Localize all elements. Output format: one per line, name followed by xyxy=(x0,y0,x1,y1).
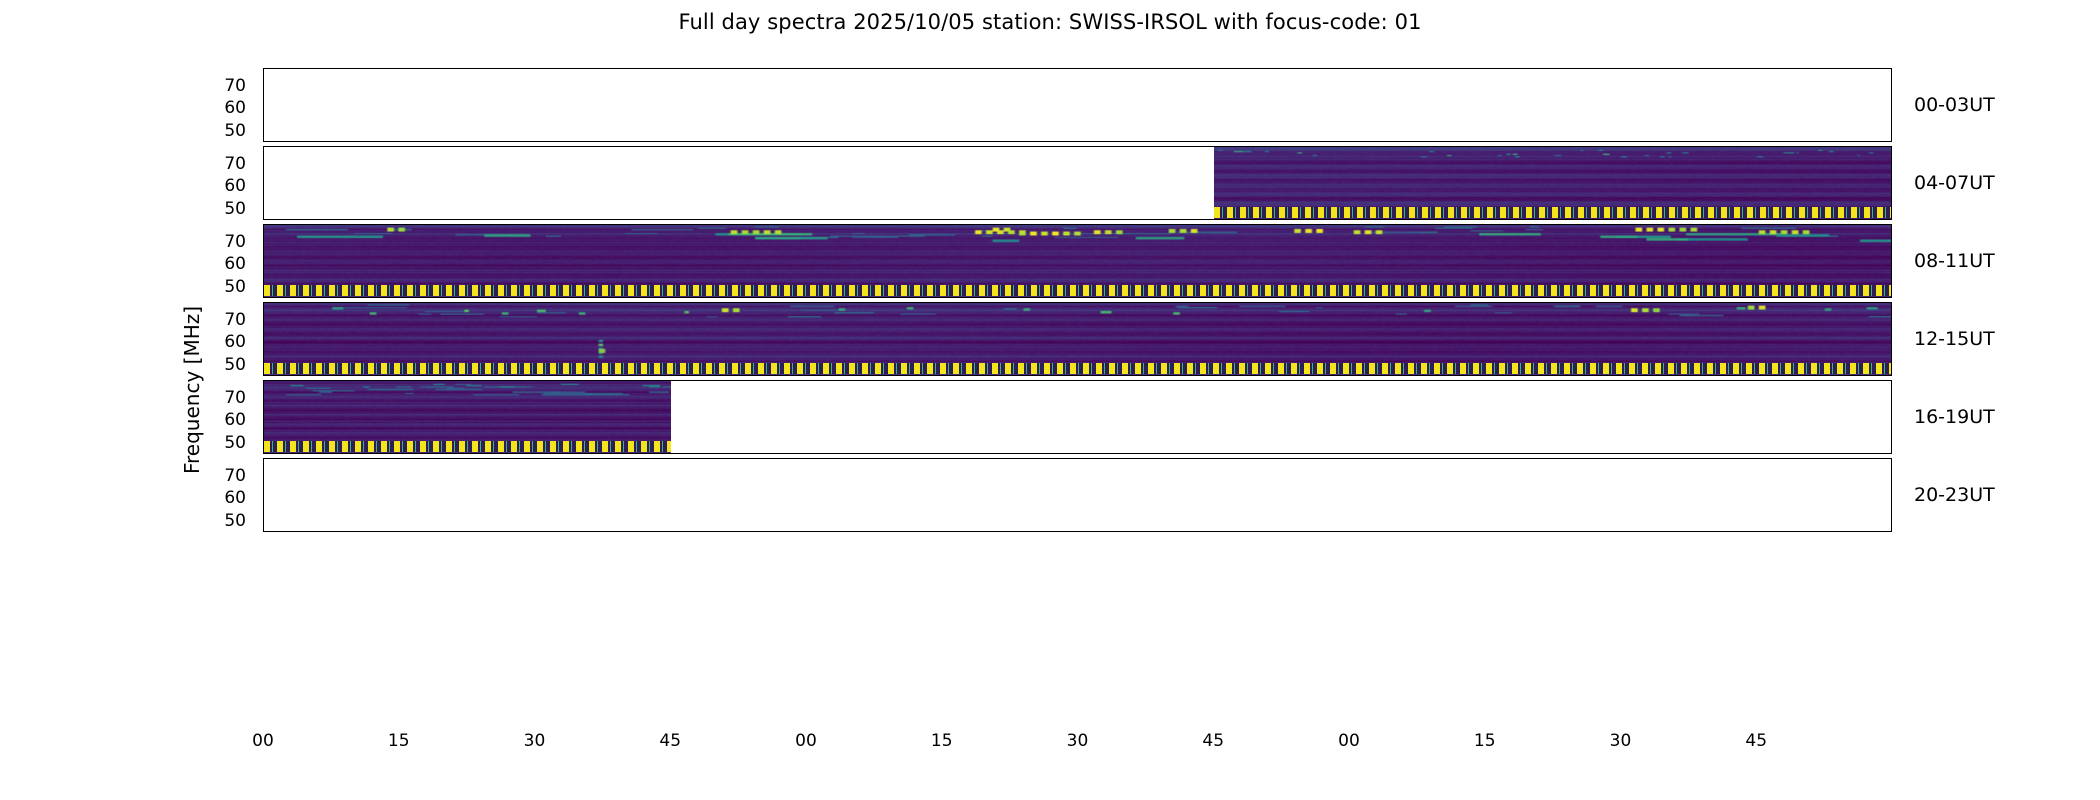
x-axis-tick xyxy=(807,219,808,220)
x-axis-tick xyxy=(400,375,401,376)
panel-plot-area xyxy=(264,225,1891,297)
x-axis-tick-top xyxy=(1622,68,1623,69)
spectrogram-figure: Full day spectra 2025/10/05 station: SWI… xyxy=(0,0,2100,800)
x-axis-tick xyxy=(1079,297,1080,298)
spectrogram-panel-12-15ut[interactable] xyxy=(263,302,1892,376)
y-axis-tick-label: 70 xyxy=(191,388,246,408)
spectrogram-data-block xyxy=(264,303,1892,375)
panel-time-range-label: 04-07UT xyxy=(1914,172,1995,194)
y-axis-tick-right xyxy=(1891,343,1892,344)
spectrogram-data-block xyxy=(1214,147,1892,219)
x-axis-tick-top xyxy=(1214,68,1215,69)
x-axis-tick xyxy=(943,375,944,376)
y-axis-tick-right xyxy=(1891,243,1892,244)
x-axis-tick xyxy=(1757,375,1758,376)
y-axis-tick xyxy=(263,210,264,211)
y-axis-tick-right xyxy=(1891,477,1892,478)
y-axis-tick-label: 70 xyxy=(191,154,246,174)
x-axis-tick-label: 45 xyxy=(648,731,692,751)
x-axis-tick-top xyxy=(536,68,537,69)
y-axis-tick-right xyxy=(1891,265,1892,266)
x-axis-tick xyxy=(1350,531,1351,532)
x-axis-tick xyxy=(1486,141,1487,142)
x-axis-tick xyxy=(1079,141,1080,142)
y-axis-tick xyxy=(263,444,264,445)
x-axis-tick xyxy=(807,531,808,532)
x-axis-tick-top xyxy=(671,458,672,459)
x-axis-tick-top xyxy=(1214,380,1215,381)
x-axis-tick-label: 15 xyxy=(1463,731,1507,751)
y-axis-tick xyxy=(263,288,264,289)
x-axis-tick-top xyxy=(1622,224,1623,225)
x-axis-tick-top xyxy=(1350,380,1351,381)
x-axis-tick xyxy=(1486,219,1487,220)
x-axis-tick-top xyxy=(1757,68,1758,69)
x-axis-tick-top xyxy=(1350,458,1351,459)
x-axis-tick-top xyxy=(671,380,672,381)
x-axis-tick xyxy=(943,219,944,220)
y-axis-tick xyxy=(263,366,264,367)
x-axis-tick-top xyxy=(807,302,808,303)
x-axis-tick xyxy=(536,375,537,376)
x-axis-tick-top xyxy=(536,458,537,459)
page-title: Full day spectra 2025/10/05 station: SWI… xyxy=(0,10,2100,34)
x-axis-tick xyxy=(1486,453,1487,454)
x-axis-tick-label: 30 xyxy=(513,731,557,751)
x-axis-tick-top xyxy=(1486,146,1487,147)
y-axis-tick xyxy=(263,343,264,344)
x-axis-tick-top xyxy=(536,380,537,381)
x-axis-tick xyxy=(536,297,537,298)
x-axis-tick xyxy=(943,531,944,532)
x-axis-tick-top xyxy=(943,68,944,69)
x-axis-tick-top xyxy=(1079,458,1080,459)
y-axis-tick-label: 60 xyxy=(191,488,246,508)
x-axis-tick-top xyxy=(807,458,808,459)
x-axis-tick xyxy=(671,453,672,454)
x-axis-tick-top xyxy=(943,458,944,459)
x-axis-tick-top xyxy=(1079,68,1080,69)
panel-time-range-label: 20-23UT xyxy=(1914,484,1995,506)
x-axis-tick xyxy=(1079,531,1080,532)
y-axis-tick-label: 60 xyxy=(191,332,246,352)
x-axis-tick-label: 30 xyxy=(1056,731,1100,751)
x-axis-tick-top xyxy=(1622,458,1623,459)
x-axis-tick xyxy=(943,141,944,142)
x-axis-tick xyxy=(1622,531,1623,532)
x-axis-tick xyxy=(1214,531,1215,532)
x-axis-tick xyxy=(807,453,808,454)
y-axis-tick-right xyxy=(1891,366,1892,367)
x-axis-tick-top xyxy=(1079,302,1080,303)
y-axis-tick xyxy=(263,522,264,523)
x-axis-tick-top xyxy=(671,224,672,225)
x-axis-tick xyxy=(671,141,672,142)
x-axis-tick xyxy=(1757,531,1758,532)
x-axis-tick xyxy=(1079,453,1080,454)
y-axis-tick xyxy=(263,499,264,500)
x-axis-tick-top xyxy=(943,224,944,225)
y-axis-tick-right xyxy=(1891,499,1892,500)
x-axis-tick xyxy=(400,531,401,532)
x-axis-tick-label: 45 xyxy=(1734,731,1778,751)
x-axis-tick-top xyxy=(1757,380,1758,381)
x-axis-tick xyxy=(807,375,808,376)
x-axis-tick-label: 00 xyxy=(1327,731,1371,751)
y-axis-tick-right xyxy=(1891,109,1892,110)
y-axis-tick-label: 60 xyxy=(191,176,246,196)
y-axis-tick-right xyxy=(1891,421,1892,422)
x-axis-tick-top xyxy=(536,146,537,147)
y-axis-tick-label: 60 xyxy=(191,410,246,430)
x-axis-tick xyxy=(943,297,944,298)
x-axis-tick xyxy=(536,219,537,220)
y-axis-tick-right xyxy=(1891,321,1892,322)
x-axis-tick xyxy=(1622,453,1623,454)
x-axis-tick xyxy=(671,375,672,376)
x-axis-tick-top xyxy=(1486,68,1487,69)
y-axis-tick xyxy=(263,399,264,400)
x-axis-tick-top xyxy=(1622,302,1623,303)
x-axis-tick xyxy=(1350,141,1351,142)
y-axis-tick-label: 50 xyxy=(191,199,246,219)
x-axis-tick-top xyxy=(1486,380,1487,381)
calibration-strip xyxy=(264,285,1892,296)
x-axis-tick xyxy=(1079,219,1080,220)
x-axis-tick-top xyxy=(1350,146,1351,147)
x-axis-tick xyxy=(536,531,537,532)
x-axis-tick-top xyxy=(807,224,808,225)
y-axis-tick xyxy=(263,187,264,188)
y-axis-tick-right xyxy=(1891,444,1892,445)
y-axis-tick-label: 50 xyxy=(191,355,246,375)
y-axis-tick-label: 50 xyxy=(191,511,246,531)
panel-time-range-label: 08-11UT xyxy=(1914,250,1995,272)
y-axis-tick-right xyxy=(1891,522,1892,523)
x-axis-tick-label: 15 xyxy=(920,731,964,751)
y-axis-tick-label: 50 xyxy=(191,121,246,141)
y-axis-tick-label: 70 xyxy=(191,466,246,486)
y-axis-tick-right xyxy=(1891,210,1892,211)
y-axis-tick xyxy=(263,87,264,88)
x-axis-tick xyxy=(1622,141,1623,142)
x-axis-tick-top xyxy=(1757,302,1758,303)
panel-plot-area xyxy=(264,69,1891,141)
x-axis-tick-top xyxy=(400,68,401,69)
x-axis-tick xyxy=(536,453,537,454)
y-axis-tick-label: 70 xyxy=(191,76,246,96)
x-axis-tick xyxy=(1214,219,1215,220)
y-axis-tick xyxy=(263,421,264,422)
spectrogram-panel-04-07ut[interactable] xyxy=(263,146,1892,220)
x-axis-tick xyxy=(943,453,944,454)
x-axis-tick-top xyxy=(1622,380,1623,381)
x-axis-tick xyxy=(1486,297,1487,298)
y-axis-tick-right xyxy=(1891,399,1892,400)
panel-plot-area xyxy=(264,147,1891,219)
x-axis-tick-top xyxy=(536,302,537,303)
panel-plot-area xyxy=(264,381,1891,453)
x-axis-tick xyxy=(400,453,401,454)
x-axis-tick-top xyxy=(400,458,401,459)
x-axis-tick xyxy=(1214,297,1215,298)
y-axis-tick-label: 50 xyxy=(191,433,246,453)
x-axis-tick-top xyxy=(943,146,944,147)
x-axis-tick xyxy=(1757,453,1758,454)
y-axis-tick-label: 60 xyxy=(191,254,246,274)
x-axis-tick xyxy=(807,141,808,142)
y-axis-tick-right xyxy=(1891,132,1892,133)
x-axis-tick-top xyxy=(1486,302,1487,303)
x-axis-tick xyxy=(671,531,672,532)
x-axis-tick-top xyxy=(536,224,537,225)
x-axis-tick-top xyxy=(1486,458,1487,459)
spectrogram-panel-08-11ut[interactable] xyxy=(263,224,1892,298)
x-axis-tick-top xyxy=(1214,224,1215,225)
x-axis-tick xyxy=(1214,375,1215,376)
x-axis-tick-label: 30 xyxy=(1599,731,1643,751)
x-axis-tick xyxy=(1350,219,1351,220)
x-axis-tick-top xyxy=(1214,302,1215,303)
x-axis-tick xyxy=(671,219,672,220)
y-axis-tick-right xyxy=(1891,165,1892,166)
x-axis-tick xyxy=(1350,297,1351,298)
x-axis-tick xyxy=(536,141,537,142)
x-axis-tick xyxy=(400,141,401,142)
y-axis-tick-label: 70 xyxy=(191,310,246,330)
y-axis-tick xyxy=(263,165,264,166)
x-axis-tick-top xyxy=(1757,146,1758,147)
x-axis-tick-top xyxy=(400,380,401,381)
x-axis-tick-top xyxy=(1079,224,1080,225)
x-axis-tick-top xyxy=(1079,380,1080,381)
x-axis-tick xyxy=(1350,375,1351,376)
x-axis-tick xyxy=(400,219,401,220)
x-axis-tick-top xyxy=(1486,224,1487,225)
x-axis-tick xyxy=(1757,219,1758,220)
y-axis-tick-label: 50 xyxy=(191,277,246,297)
x-axis-tick-label: 00 xyxy=(784,731,828,751)
x-axis-tick-top xyxy=(1350,224,1351,225)
x-axis-tick xyxy=(1757,141,1758,142)
x-axis-tick-top xyxy=(671,302,672,303)
x-axis-tick xyxy=(1079,375,1080,376)
calibration-strip xyxy=(1214,207,1892,218)
spectrogram-panel-16-19ut[interactable] xyxy=(263,380,1892,454)
x-axis-tick xyxy=(1757,297,1758,298)
y-axis-tick xyxy=(263,265,264,266)
spectrogram-data-block xyxy=(264,225,1892,297)
x-axis-tick-top xyxy=(1214,146,1215,147)
x-axis-tick-label: 15 xyxy=(377,731,421,751)
y-axis-tick-right xyxy=(1891,87,1892,88)
x-axis-tick xyxy=(1486,531,1487,532)
x-axis-tick xyxy=(1214,141,1215,142)
x-axis-tick xyxy=(1622,297,1623,298)
y-axis-tick xyxy=(263,243,264,244)
y-axis-tick xyxy=(263,109,264,110)
x-axis-tick xyxy=(1622,219,1623,220)
y-axis-tick-right xyxy=(1891,187,1892,188)
x-axis-tick-label: 45 xyxy=(1191,731,1235,751)
panel-plot-area xyxy=(264,459,1891,531)
x-axis-tick xyxy=(1486,375,1487,376)
x-axis-tick-top xyxy=(943,302,944,303)
x-axis-tick-top xyxy=(671,146,672,147)
panel-plot-area xyxy=(264,303,1891,375)
x-axis-tick-top xyxy=(400,302,401,303)
x-axis-tick-top xyxy=(807,146,808,147)
calibration-strip xyxy=(264,441,671,452)
x-axis-tick-top xyxy=(1757,224,1758,225)
x-axis-tick-top xyxy=(671,68,672,69)
x-axis-tick xyxy=(400,297,401,298)
y-axis-tick xyxy=(263,321,264,322)
x-axis-tick xyxy=(1350,453,1351,454)
y-axis-tick xyxy=(263,132,264,133)
panel-time-range-label: 16-19UT xyxy=(1914,406,1995,428)
x-axis-tick-top xyxy=(807,68,808,69)
panel-time-range-label: 12-15UT xyxy=(1914,328,1995,350)
x-axis-tick-top xyxy=(400,224,401,225)
y-axis-tick xyxy=(263,477,264,478)
spectrogram-data-block xyxy=(264,381,671,453)
spectrogram-panel-20-23ut[interactable] xyxy=(263,458,1892,532)
y-axis-tick-right xyxy=(1891,288,1892,289)
x-axis-tick-top xyxy=(1622,146,1623,147)
spectrogram-panel-00-03ut[interactable] xyxy=(263,68,1892,142)
panel-time-range-label: 00-03UT xyxy=(1914,94,1995,116)
x-axis-tick-top xyxy=(1757,458,1758,459)
x-axis-tick xyxy=(807,297,808,298)
x-axis-tick-top xyxy=(807,380,808,381)
x-axis-tick-top xyxy=(1350,68,1351,69)
x-axis-tick-top xyxy=(943,380,944,381)
x-axis-tick-top xyxy=(1350,302,1351,303)
y-axis-tick-label: 70 xyxy=(191,232,246,252)
x-axis-tick-top xyxy=(400,146,401,147)
y-axis-tick-label: 60 xyxy=(191,98,246,118)
calibration-strip xyxy=(264,363,1892,374)
x-axis-tick-top xyxy=(1079,146,1080,147)
x-axis-tick xyxy=(1622,375,1623,376)
x-axis-tick xyxy=(671,297,672,298)
x-axis-tick xyxy=(1214,453,1215,454)
x-axis-tick-label: 00 xyxy=(241,731,285,751)
x-axis-tick-top xyxy=(1214,458,1215,459)
